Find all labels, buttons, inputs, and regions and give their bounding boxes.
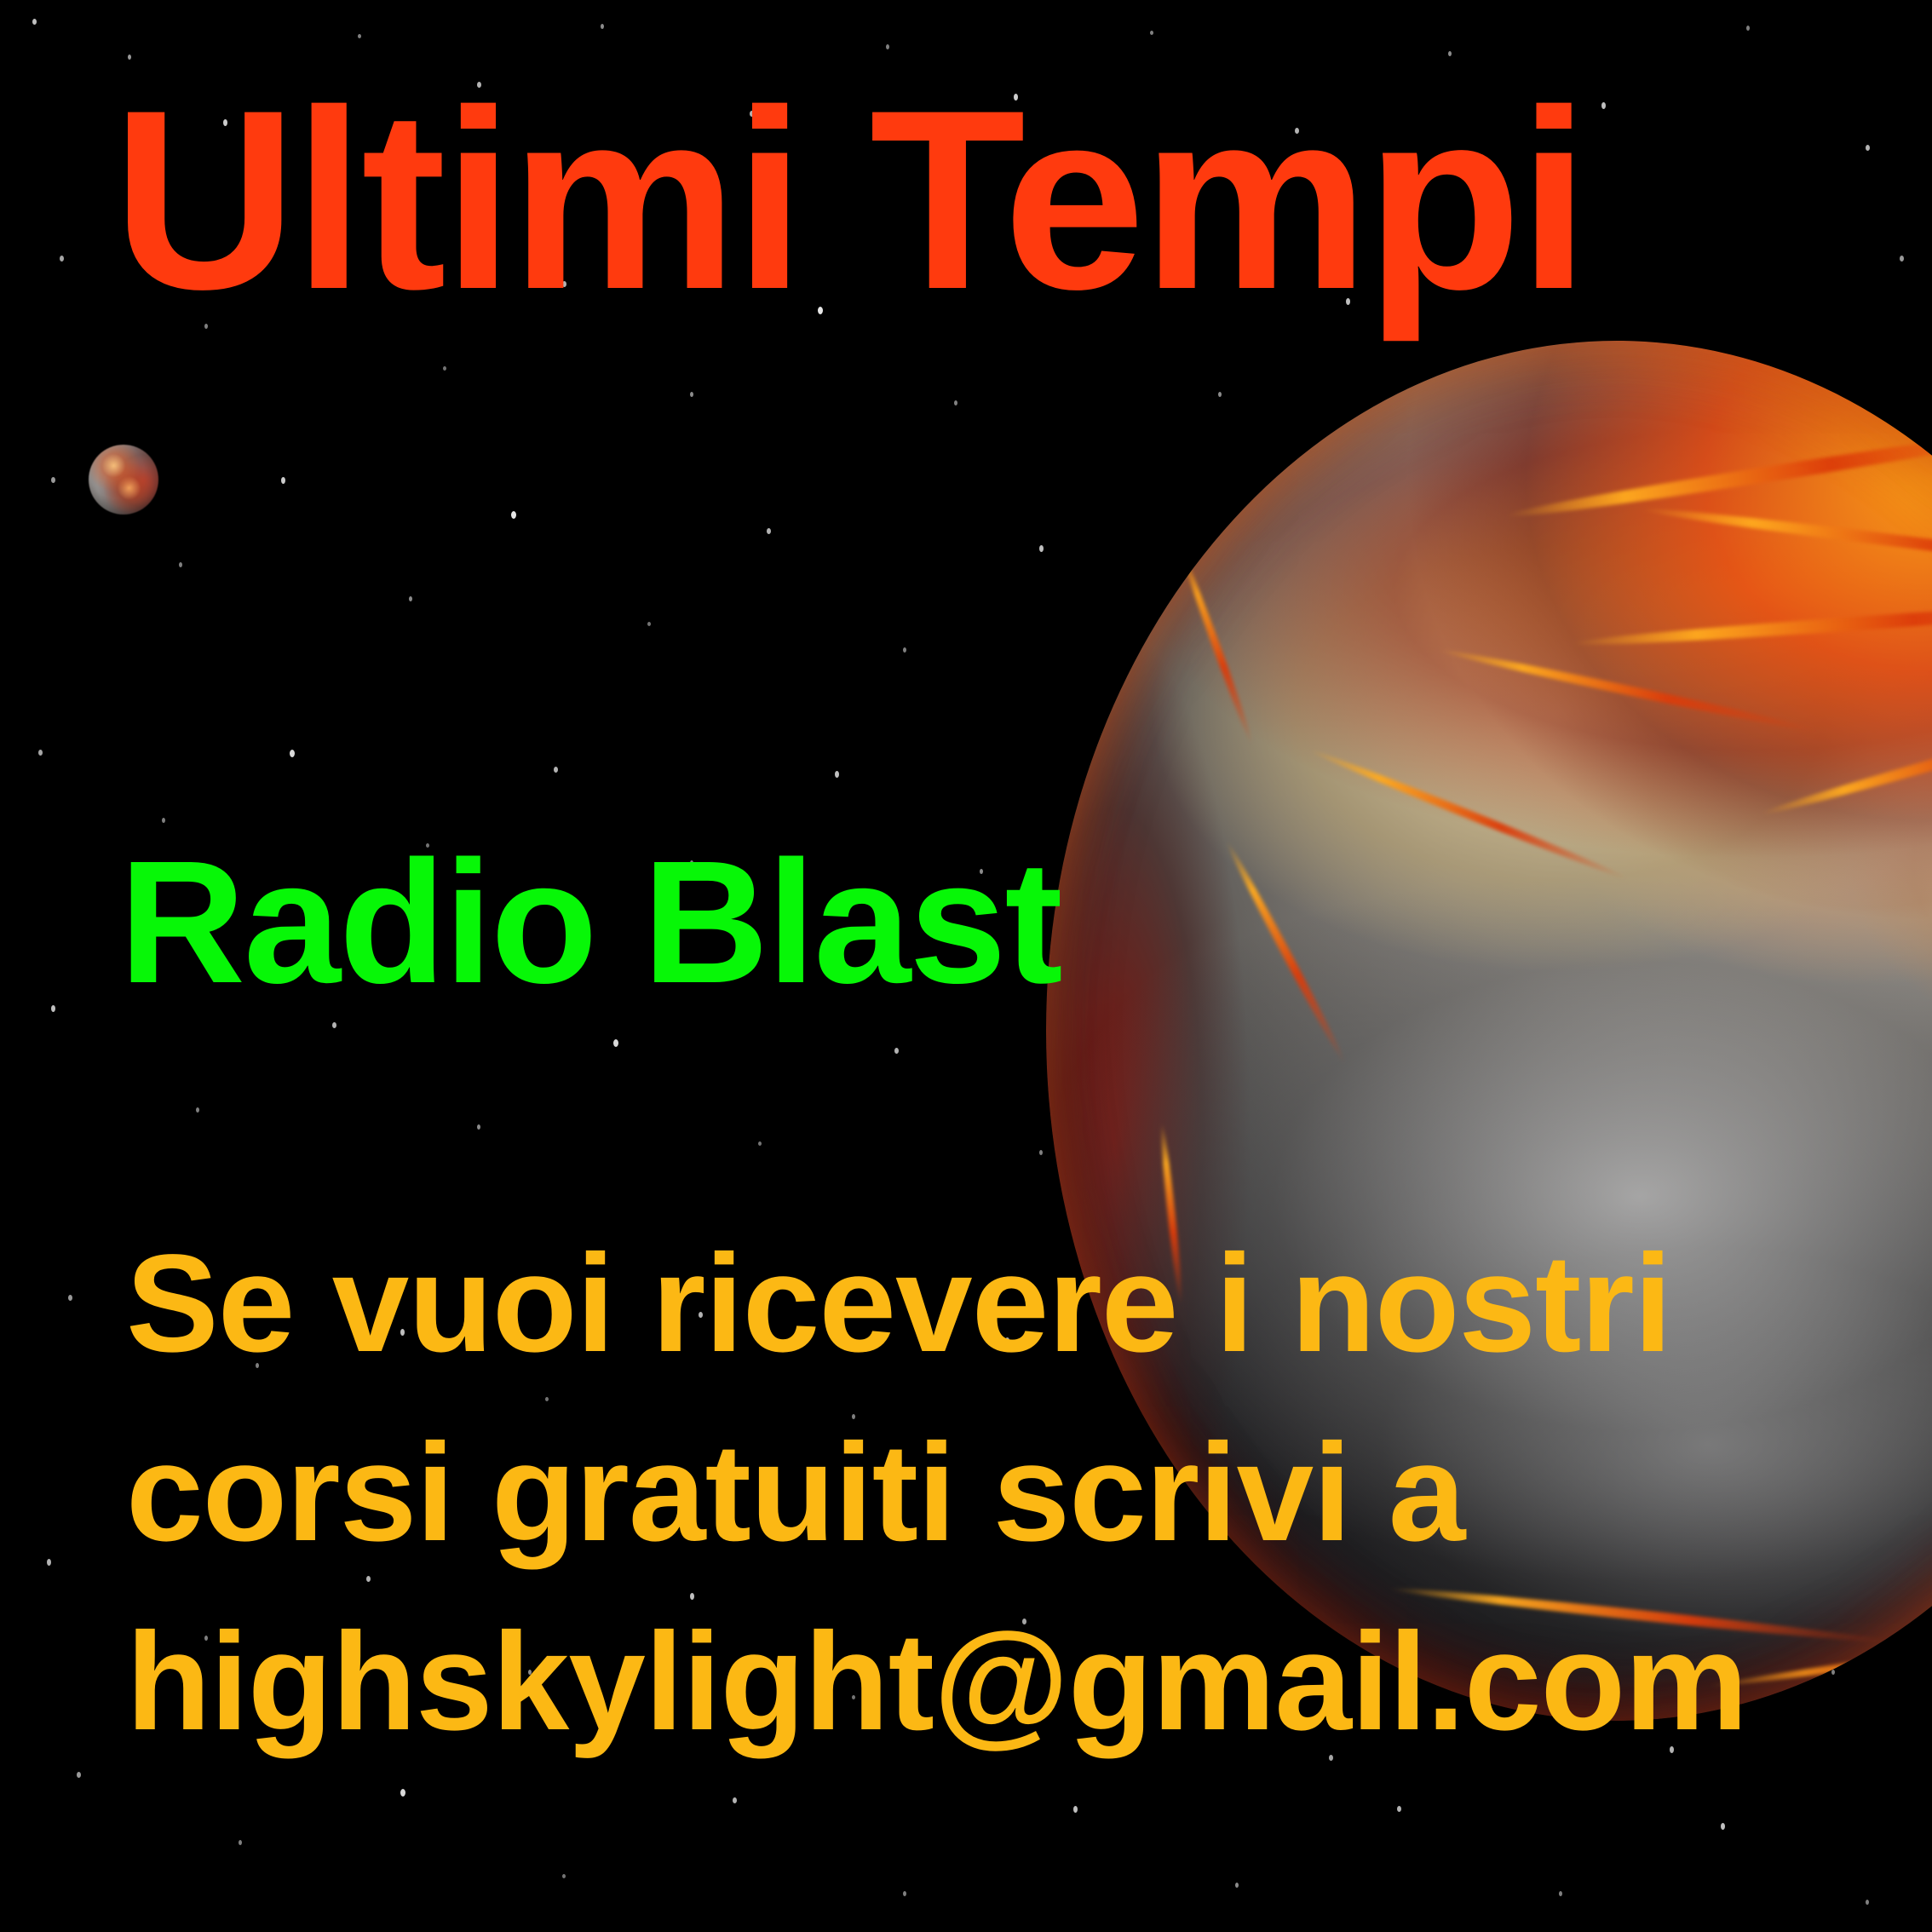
lava-vein — [1572, 597, 1932, 651]
contact-email[interactable]: highskylight@gmail.com — [126, 1612, 1747, 1751]
lava-vein — [1179, 550, 1256, 746]
cta-line-2: corsi gratuiti scrivi a — [126, 1423, 1464, 1561]
lava-vein — [1505, 423, 1932, 523]
show-name: Radio Blast — [119, 835, 1061, 1009]
lava-vein — [1223, 839, 1348, 1065]
burning-moon — [89, 445, 158, 515]
lava-vein — [1308, 746, 1629, 883]
cta-line-1: Se vuoi ricevere i nostri — [126, 1233, 1671, 1372]
podcast-cover-art: Ultimi Tempi Radio Blast Se vuoi ricever… — [0, 0, 1932, 1932]
page-title: Ultimi Tempi — [112, 72, 1586, 327]
lava-vein — [1437, 646, 1819, 735]
lava-vein — [1851, 375, 1932, 483]
lava-vein — [1641, 503, 1932, 577]
lava-vein — [1760, 701, 1932, 819]
